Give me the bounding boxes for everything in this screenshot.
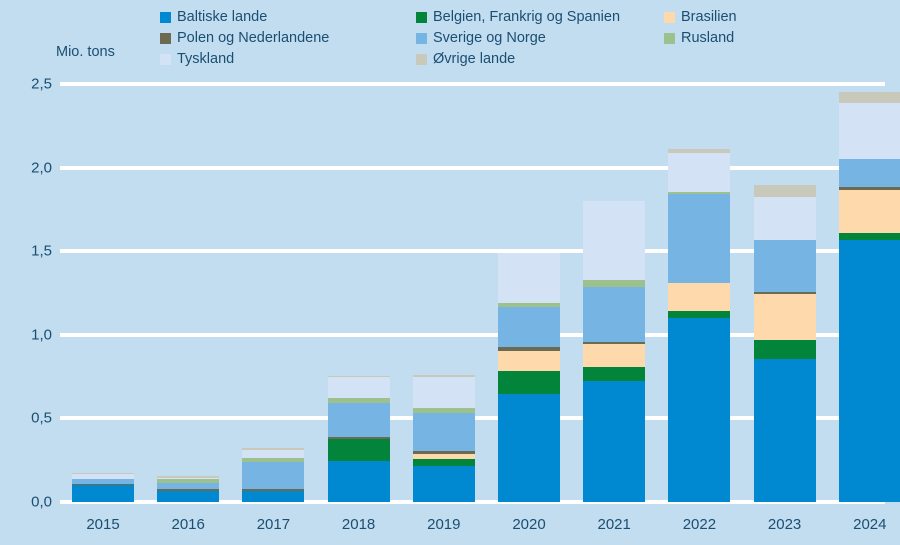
- bar-segment[interactable]: [668, 311, 730, 318]
- bar-2021[interactable]: [583, 201, 645, 502]
- bar-segment[interactable]: [157, 483, 219, 489]
- bar-2023[interactable]: [754, 185, 816, 502]
- bar-segment[interactable]: [498, 394, 560, 502]
- bar-segment[interactable]: [157, 476, 219, 478]
- bar-segment[interactable]: [413, 466, 475, 502]
- bar-segment[interactable]: [328, 403, 390, 437]
- x-axis-tick-label: 2024: [853, 516, 886, 533]
- bar-segment[interactable]: [668, 149, 730, 152]
- bar-segment[interactable]: [242, 489, 304, 491]
- bar-2024[interactable]: [839, 92, 900, 502]
- plot-area: [0, 0, 900, 545]
- bar-segment[interactable]: [583, 344, 645, 367]
- x-axis-tick-label: 2019: [427, 516, 460, 533]
- bar-2022[interactable]: [668, 149, 730, 502]
- bar-2019[interactable]: [413, 375, 475, 502]
- bar-segment[interactable]: [413, 454, 475, 459]
- x-axis-tick-label: 2020: [512, 516, 545, 533]
- bar-segment[interactable]: [498, 253, 560, 303]
- bar-segment[interactable]: [583, 381, 645, 502]
- bar-segment[interactable]: [583, 280, 645, 287]
- bar-segment[interactable]: [754, 359, 816, 502]
- bar-segment[interactable]: [328, 439, 390, 461]
- x-axis-tick-label: 2021: [598, 516, 631, 533]
- bar-segment[interactable]: [413, 451, 475, 454]
- bar-segment[interactable]: [839, 240, 900, 502]
- bar-segment[interactable]: [754, 294, 816, 340]
- bar-segment[interactable]: [668, 318, 730, 502]
- bar-segment[interactable]: [157, 479, 219, 482]
- bar-2016[interactable]: [157, 476, 219, 502]
- bar-segment[interactable]: [498, 347, 560, 350]
- bar-segment[interactable]: [754, 292, 816, 294]
- bar-2017[interactable]: [242, 448, 304, 502]
- bar-segment[interactable]: [328, 376, 390, 378]
- bar-segment[interactable]: [157, 491, 219, 502]
- bar-segment[interactable]: [157, 489, 219, 492]
- bar-segment[interactable]: [583, 201, 645, 280]
- bar-segment[interactable]: [328, 437, 390, 440]
- bar-segment[interactable]: [157, 478, 219, 480]
- x-axis-tick-label: 2023: [768, 516, 801, 533]
- x-axis-tick-label: 2017: [257, 516, 290, 533]
- bar-segment[interactable]: [583, 367, 645, 380]
- bar-segment[interactable]: [583, 287, 645, 341]
- bar-segment[interactable]: [754, 340, 816, 359]
- bar-segment[interactable]: [242, 450, 304, 458]
- bar-segment[interactable]: [413, 408, 475, 413]
- bar-segment[interactable]: [242, 462, 304, 490]
- bar-segment[interactable]: [242, 491, 304, 502]
- bar-segment[interactable]: [839, 187, 900, 190]
- bar-segment[interactable]: [413, 377, 475, 407]
- bar-segment[interactable]: [72, 473, 134, 475]
- bar-segment[interactable]: [754, 240, 816, 293]
- bar-segment[interactable]: [242, 458, 304, 462]
- bar-2015[interactable]: [72, 473, 134, 502]
- x-axis-tick-label: 2018: [342, 516, 375, 533]
- bar-segment[interactable]: [839, 159, 900, 187]
- x-axis-tick-label: 2022: [683, 516, 716, 533]
- bar-segment[interactable]: [754, 197, 816, 240]
- bar-segment[interactable]: [413, 375, 475, 378]
- bar-segment[interactable]: [668, 153, 730, 192]
- bar-segment[interactable]: [498, 351, 560, 371]
- bar-segment[interactable]: [498, 303, 560, 307]
- bar-2020[interactable]: [498, 253, 560, 502]
- bar-segment[interactable]: [668, 194, 730, 283]
- bar-segment[interactable]: [328, 398, 390, 403]
- bar-2018[interactable]: [328, 376, 390, 502]
- x-axis-tick-label: 2016: [172, 516, 205, 533]
- bar-segment[interactable]: [72, 474, 134, 478]
- bar-segment[interactable]: [839, 233, 900, 241]
- x-axis-tick-label: 2015: [86, 516, 119, 533]
- bar-segment[interactable]: [328, 461, 390, 502]
- bar-segment[interactable]: [242, 448, 304, 451]
- bar-segment[interactable]: [839, 103, 900, 159]
- bar-segment[interactable]: [668, 192, 730, 194]
- bar-segment[interactable]: [413, 413, 475, 451]
- bar-segment[interactable]: [839, 190, 900, 233]
- bar-segment[interactable]: [72, 479, 134, 484]
- stacked-bar-chart: Baltiske landePolen og NederlandeneTyskl…: [0, 0, 900, 545]
- bar-segment[interactable]: [754, 185, 816, 197]
- bar-segment[interactable]: [72, 485, 134, 502]
- bar-segment[interactable]: [839, 92, 900, 104]
- bar-segment[interactable]: [498, 307, 560, 347]
- bar-segment[interactable]: [72, 484, 134, 486]
- bar-segment[interactable]: [328, 377, 390, 397]
- bar-segment[interactable]: [668, 283, 730, 311]
- bar-segment[interactable]: [583, 342, 645, 345]
- bar-segment[interactable]: [498, 371, 560, 394]
- bar-segment[interactable]: [413, 459, 475, 466]
